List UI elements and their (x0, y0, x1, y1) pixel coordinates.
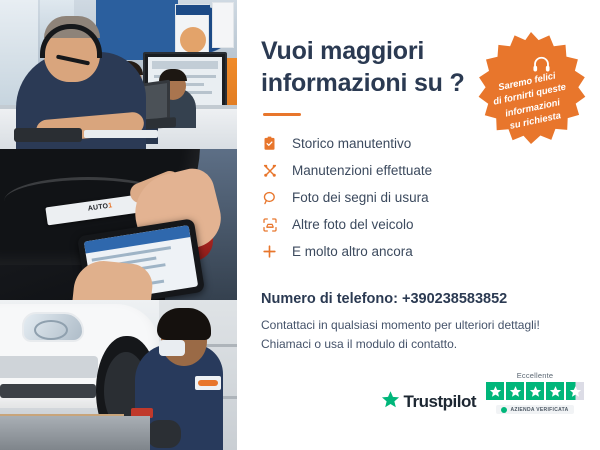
list-item: Foto dei segni di usura (261, 184, 578, 211)
star-filled (546, 382, 564, 400)
list-item-label: E molto altro ancora (292, 244, 413, 259)
list-item: Manutenzioni effettuate (261, 157, 578, 184)
trustpilot-stars (486, 382, 584, 400)
plus-icon (261, 243, 278, 260)
callout-badge: Saremo felici di fornirti queste informa… (473, 30, 589, 146)
verified-badge: AZIENDA VERIFICATA (496, 405, 573, 414)
star-half (566, 382, 584, 400)
phone-subtext-line2: Chiamaci o usa il modulo di contatto. (261, 335, 578, 354)
star-filled (486, 382, 504, 400)
phone-number[interactable]: Numero di telefono: +390238583852 (261, 291, 578, 307)
photo-column: AUTO1 (0, 0, 237, 450)
trustpilot-logo: Trustpilot (381, 390, 476, 414)
call-center-photo (0, 0, 237, 149)
verified-check-icon (501, 407, 507, 413)
list-item-label: Storico manutentivo (292, 136, 411, 151)
trustpilot-widget[interactable]: Trustpilot Eccellente AZIENDA VERIFICATA (381, 371, 584, 414)
page-title: Vuoi maggiori informazioni su ? (261, 36, 471, 99)
star-filled (526, 382, 544, 400)
phone-subtext-line1: Contattaci in qualsiasi momento per ulte… (261, 316, 578, 335)
trustpilot-rating-label: Eccellente (517, 371, 554, 380)
scan-car-icon (261, 216, 278, 233)
promo-card: AUTO1 Vuoi magg (0, 0, 600, 450)
feature-list: Storico manutentivo Manutenzioni effettu… (261, 130, 578, 265)
trustpilot-rating: Eccellente AZIENDA VERIFICATA (486, 371, 584, 414)
tools-cross-icon (261, 162, 278, 179)
list-item-label: Altre foto del veicolo (292, 217, 414, 232)
verified-label: AZIENDA VERIFICATA (510, 407, 568, 413)
list-item-label: Foto dei segni di usura (292, 190, 429, 205)
list-item: E molto altro ancora (261, 238, 578, 265)
content-panel: Vuoi maggiori informazioni su ? Storico … (237, 0, 600, 450)
magnifier-icon (261, 189, 278, 206)
wheel-service-photo (0, 300, 237, 450)
list-item: Altre foto del veicolo (261, 211, 578, 238)
trustpilot-name: Trustpilot (404, 392, 476, 412)
body-inspection-photo: AUTO1 (0, 149, 237, 300)
clipboard-check-icon (261, 135, 278, 152)
phone-subtext: Contattaci in qualsiasi momento per ulte… (261, 316, 578, 353)
star-filled (506, 382, 524, 400)
list-item-label: Manutenzioni effettuate (292, 163, 432, 178)
title-divider (263, 113, 301, 116)
trustpilot-star-icon (381, 390, 400, 414)
